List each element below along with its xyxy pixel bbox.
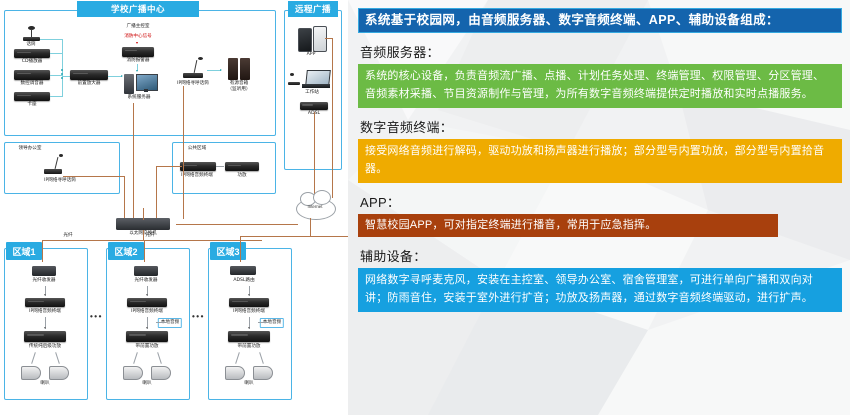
label-public-power-amp: 功放 bbox=[237, 173, 246, 179]
section-body-audio-server: 系统的核心设备，负责音频流广播、点播、计划任务处理、终端管理、权限管理、分区管理… bbox=[358, 64, 842, 108]
wire-terminal-to-amp bbox=[216, 166, 224, 167]
wire-server-trunk bbox=[133, 103, 134, 219]
bus-dot-1 bbox=[61, 69, 63, 71]
wire-centermic-trunk bbox=[183, 86, 184, 219]
wire-public-trunk-v bbox=[156, 166, 157, 219]
zone3-ip-audio-terminal-icon bbox=[229, 298, 269, 307]
wire-fiber-bus bbox=[42, 240, 262, 241]
ip-paging-mic-base-icon bbox=[183, 73, 203, 78]
digital-mixer-icon bbox=[14, 70, 50, 80]
zone2-speaker-left-icon bbox=[123, 366, 143, 380]
leader-mic-base-icon bbox=[44, 169, 62, 174]
zone-tab-2: 区域2 bbox=[108, 242, 144, 260]
panel-title-leader-office: 领导办公室 bbox=[19, 146, 42, 152]
wire-preamp-to-server bbox=[108, 76, 122, 77]
bus-dot-3 bbox=[61, 77, 63, 79]
zone-tab-1: 区域1 bbox=[6, 242, 42, 260]
tape-deck-icon bbox=[14, 92, 50, 101]
label-public-ip-audio-terminal: IP网络音频终端 bbox=[181, 173, 213, 179]
label-zone1-rear-amp: 传统纯后级功放 bbox=[29, 344, 61, 350]
label-tape-deck: 卡座 bbox=[27, 102, 36, 108]
section-title-digital-audio-terminal: 数字音频终端： bbox=[360, 117, 836, 136]
label-fire-alarm: 消防报警器 bbox=[127, 58, 150, 64]
arrow-zone2-terminal bbox=[146, 294, 148, 296]
zone1-fiber-transceiver-icon bbox=[32, 266, 56, 276]
wire-public-trunk-h bbox=[156, 166, 182, 167]
section-body-app: 智慧校园APP，可对指定终端进行播音，常用于应急指挥。 bbox=[358, 214, 778, 238]
zone1-speaker-left-icon bbox=[21, 366, 41, 380]
label-app: APP bbox=[307, 52, 316, 58]
zone1-speaker-right-icon bbox=[49, 366, 69, 380]
label-preamp: 前置放大器 bbox=[78, 81, 101, 87]
server-monitor-stand-icon bbox=[144, 89, 148, 92]
zone2-ip-audio-terminal-icon bbox=[127, 298, 167, 307]
label-zone1-fiber-transceiver: 光纤收发器 bbox=[33, 278, 56, 284]
zone3-front-amp-icon bbox=[228, 331, 270, 342]
label-zone2-speaker: 喇叭 bbox=[142, 381, 151, 387]
label-broadcast-control-room: 广播主控室 bbox=[127, 24, 150, 30]
label-zone3-ip-audio-terminal: IP网络音频终端 bbox=[233, 309, 265, 315]
arrow-fire-signal bbox=[136, 42, 138, 44]
active-speaker-left-icon bbox=[228, 58, 238, 80]
wire-mic-to-preamp bbox=[40, 39, 62, 40]
label-internet: Internet bbox=[308, 204, 323, 209]
panel-title-school-broadcast-center: 学校广播中心 bbox=[77, 1, 199, 17]
label-zone1-speaker: 喇叭 bbox=[40, 381, 49, 387]
wire-leader-trunk-h bbox=[63, 176, 125, 177]
wire-cloud-to-switch bbox=[176, 224, 298, 225]
microphone-base-icon bbox=[23, 37, 40, 41]
ip-paging-mic-head-icon bbox=[198, 57, 203, 60]
label-microphone: 话筒 bbox=[26, 42, 35, 48]
label-fiber-2: 光纤 bbox=[145, 233, 154, 239]
label-zone2-fiber-transceiver: 光纤收发器 bbox=[135, 278, 158, 284]
panel-title-remote-broadcast: 远程广播 bbox=[288, 1, 338, 17]
section-body-digital-audio-terminal: 接受网络音频进行解码，驱动功放和扬声器进行播放；部分型号内置功放，部分型号内置拾… bbox=[358, 139, 842, 183]
wire-remote-trunk bbox=[314, 112, 315, 198]
active-speaker-right-icon bbox=[240, 58, 250, 80]
label-zone3-speaker: 喇叭 bbox=[244, 381, 253, 387]
zone1-rear-amp-icon bbox=[24, 331, 66, 342]
cd-player-icon bbox=[14, 49, 50, 58]
zone-ellipsis-2: ••• bbox=[192, 312, 205, 321]
zone2-speaker-right-icon bbox=[151, 366, 171, 380]
wire-mic-to-active-speaker bbox=[207, 70, 221, 71]
wire-bus-vertical bbox=[62, 39, 63, 97]
label-active-speaker-line1: 有源音箱 （监听用） bbox=[228, 81, 251, 92]
zone-ellipsis-1: ••• bbox=[90, 312, 103, 321]
arrow-zone2-amp bbox=[146, 327, 148, 329]
section-body-auxiliary-equipment: 网络数字寻呼麦克风，安装在主控室、领导办公室、宿舍管理室，可进行单向广播和双向对… bbox=[358, 268, 842, 312]
label-active-speaker: 有源音箱 （监听用） bbox=[228, 81, 251, 92]
panel-title-public-area: 公共区域 bbox=[188, 146, 206, 152]
description-panel: 系统基于校园网，由音频服务器、数字音频终端、APP、辅助设备组成： 音频服务器：… bbox=[348, 0, 850, 415]
zone3-speaker-left-icon bbox=[225, 366, 245, 380]
wire-cloud-down bbox=[310, 218, 311, 236]
app-phone-dark-icon bbox=[298, 28, 312, 52]
label-leader-office-mic: IP网络寻呼话筒 bbox=[44, 178, 76, 184]
label-zone1-ip-audio-terminal: IP网络音频终端 bbox=[29, 309, 61, 315]
arrow-mic-to-active-speaker bbox=[220, 69, 222, 71]
section-title-audio-server: 音频服务器： bbox=[360, 42, 836, 61]
leader-mic-head-icon bbox=[59, 154, 63, 157]
arrow-zone3-amp bbox=[248, 327, 250, 329]
wire-zone2-drop bbox=[144, 240, 145, 262]
bus-dot-2 bbox=[61, 73, 63, 75]
workstation-mic-base-icon bbox=[288, 82, 300, 85]
arrow-preamp-to-server bbox=[121, 75, 123, 77]
label-ip-paging-mic-center: IP网络寻呼话筒 bbox=[177, 81, 209, 87]
label-workstation: 工作站 bbox=[305, 90, 319, 96]
zone2-fiber-transceiver-icon bbox=[134, 266, 158, 276]
network-topology-diagram: 学校广播中心 话筒 CD播放器 数控调音器 卡座 前置放大器 广播主控室 消防中… bbox=[0, 0, 348, 415]
arrow-zone3-terminal bbox=[248, 294, 250, 296]
arrow-alarm-to-server bbox=[136, 70, 138, 72]
label-system-server: 系统服务器 bbox=[128, 95, 151, 101]
wire-leader-trunk-v bbox=[124, 176, 125, 219]
label-digital-mixer: 数控调音器 bbox=[21, 81, 44, 87]
arrow-zone1-terminal bbox=[44, 294, 46, 296]
section-title-app: APP： bbox=[360, 192, 836, 211]
wire-zone3-drop bbox=[240, 236, 241, 262]
zone1-ip-audio-terminal-icon bbox=[25, 298, 65, 307]
wire-app-trunk-h bbox=[325, 38, 333, 39]
fire-alarm-icon bbox=[122, 47, 154, 57]
wire-deck-to-preamp bbox=[50, 96, 62, 97]
wire-zone3-feed bbox=[240, 236, 348, 237]
adsl-modem-icon bbox=[300, 102, 328, 110]
wire-zone1-drop bbox=[42, 240, 43, 262]
zone2-front-amp-icon bbox=[126, 331, 168, 342]
label-zone3-adsl-router: ADSL路由 bbox=[233, 278, 254, 284]
label-fire-center-signal: 消防中心信号 bbox=[124, 34, 152, 40]
server-tower-icon bbox=[124, 74, 134, 94]
preamp-icon bbox=[70, 70, 108, 80]
wire-zone2-local-audio bbox=[156, 322, 166, 323]
wire-app-trunk bbox=[332, 38, 333, 198]
arrow-zone1-amp bbox=[44, 327, 46, 329]
workstation-laptop-base-icon bbox=[302, 84, 330, 88]
zone3-adsl-router-icon bbox=[230, 266, 256, 275]
label-fiber-1: 光纤 bbox=[63, 233, 72, 239]
public-power-amp-icon bbox=[225, 162, 259, 171]
label-zone3-front-amp: 带前置功放 bbox=[238, 344, 261, 350]
panel-heading: 系统基于校园网，由音频服务器、数字音频终端、APP、辅助设备组成： bbox=[358, 8, 842, 33]
internet-cloud-puff-2 bbox=[313, 190, 331, 205]
public-ip-audio-terminal-icon bbox=[180, 162, 216, 171]
zone3-speaker-right-icon bbox=[253, 366, 273, 380]
wire-cd-to-preamp bbox=[50, 53, 62, 54]
label-cd-player: CD播放器 bbox=[22, 59, 43, 65]
wire-mixer-to-preamp bbox=[50, 75, 62, 76]
workstation-mic-head-icon bbox=[290, 73, 294, 76]
label-zone2-ip-audio-terminal: IP网络音频终端 bbox=[131, 309, 163, 315]
wire-zone3-local-audio bbox=[258, 322, 268, 323]
label-zone2-front-amp: 带前置功放 bbox=[136, 344, 159, 350]
wire-switch-up bbox=[143, 208, 144, 220]
section-title-auxiliary-equipment: 辅助设备： bbox=[360, 246, 836, 265]
screenshot-root: 学校广播中心 话筒 CD播放器 数控调音器 卡座 前置放大器 广播主控室 消防中… bbox=[0, 0, 850, 415]
